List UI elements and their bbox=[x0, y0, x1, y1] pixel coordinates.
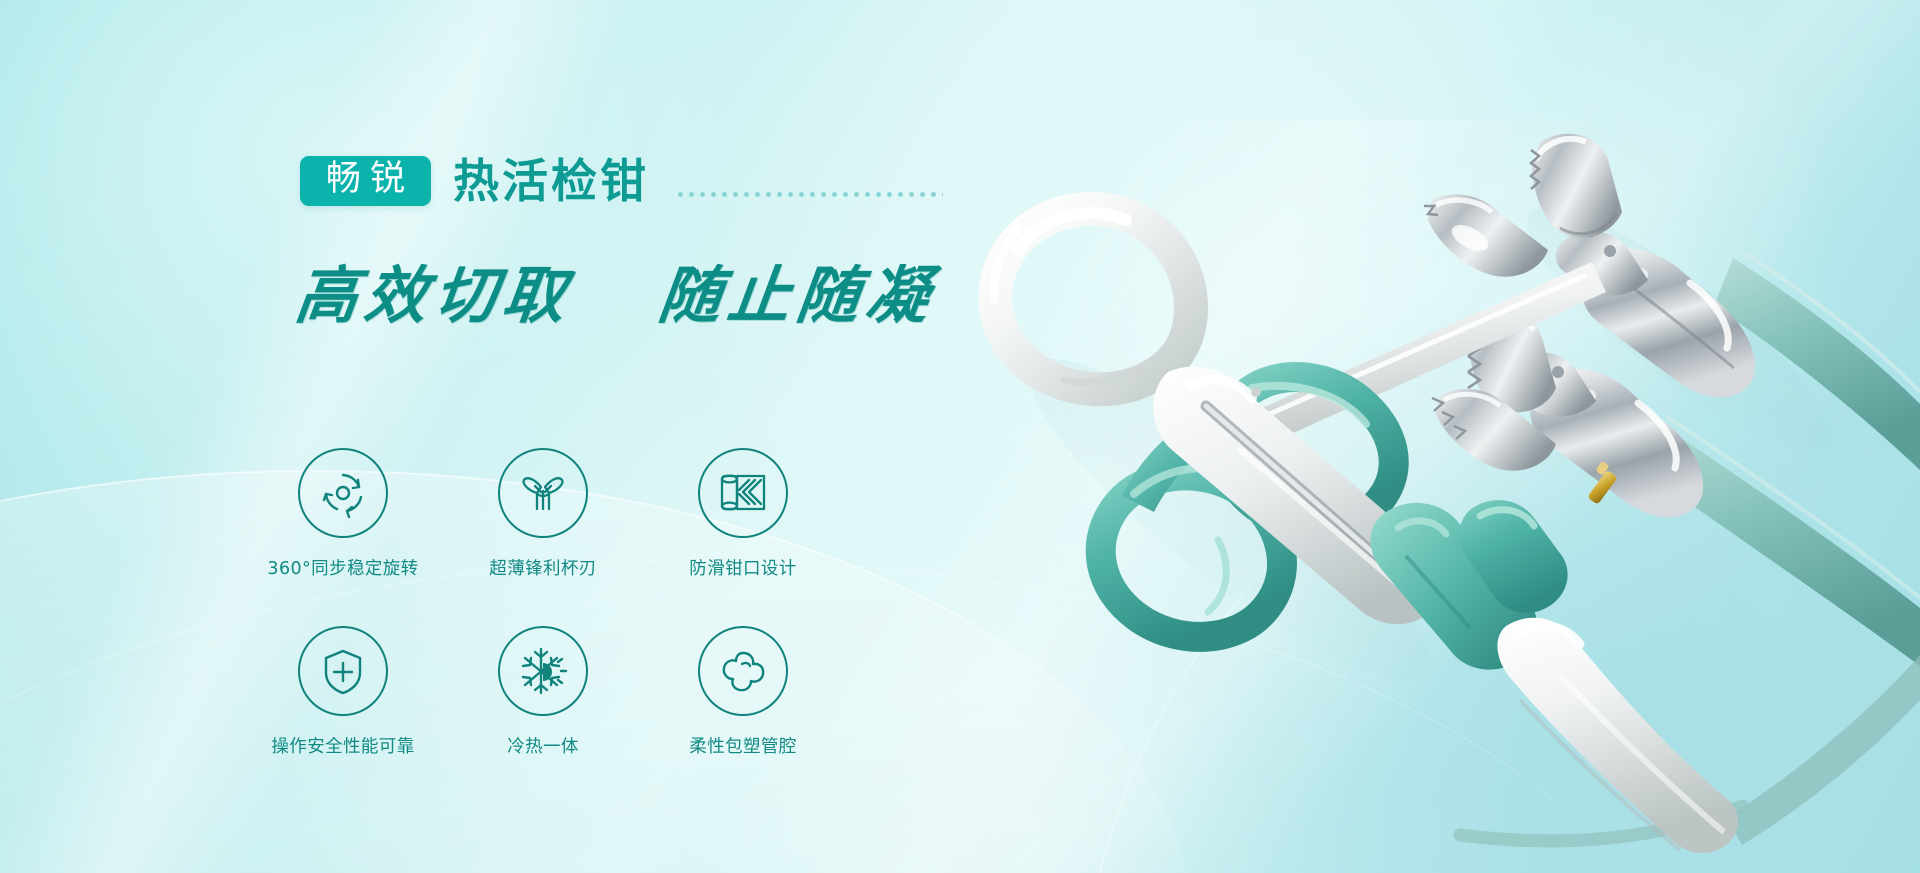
feature-grid: 360°同步稳定旋转 超薄锋利杯刃 bbox=[243, 448, 843, 758]
feature-item-lumen: 柔性包塑管腔 bbox=[643, 626, 843, 758]
anti-slip-jaw-icon bbox=[698, 448, 788, 538]
brand-badge: 畅锐 bbox=[300, 156, 431, 206]
feature-label: 防滑钳口设计 bbox=[689, 555, 796, 580]
feature-label: 冷热一体 bbox=[507, 733, 579, 758]
handle-assembly bbox=[994, 209, 1738, 853]
handle-teal-rings bbox=[1101, 377, 1394, 637]
flexible-sheath bbox=[1460, 250, 1920, 845]
forceps-head-upper bbox=[1424, 134, 1755, 397]
electrical-pin bbox=[1587, 461, 1618, 505]
handle-nose-cone bbox=[1497, 618, 1738, 853]
handle-white-thumb-ring bbox=[994, 209, 1191, 389]
title-row: 畅锐 热活检钳 bbox=[300, 156, 943, 206]
product-banner: 畅锐 热活检钳 高效切取 随止随凝 bbox=[0, 0, 1920, 873]
headline-left: 高效切取 bbox=[292, 259, 577, 332]
feature-item-rotation: 360°同步稳定旋转 bbox=[243, 448, 443, 580]
feature-item-blade: 超薄锋利杯刃 bbox=[443, 448, 643, 580]
product-shadow bbox=[996, 175, 1859, 721]
rotation-360-icon bbox=[298, 448, 388, 538]
page-title: 热活检钳 bbox=[453, 158, 649, 204]
headline: 高效切取 随止随凝 bbox=[292, 260, 940, 331]
background-glow-bottom-right bbox=[1020, 253, 1920, 873]
feature-label: 360°同步稳定旋转 bbox=[267, 555, 418, 580]
shield-plus-icon bbox=[298, 626, 388, 716]
feature-item-safety: 操作安全性能可靠 bbox=[243, 626, 443, 758]
feature-item-hotcold: 冷热一体 bbox=[443, 626, 643, 758]
feature-label: 超薄锋利杯刃 bbox=[489, 555, 596, 580]
feature-label: 柔性包塑管腔 bbox=[689, 733, 796, 758]
feature-item-jaw: 防滑钳口设计 bbox=[643, 448, 843, 580]
dotted-divider bbox=[675, 192, 943, 197]
hot-cold-icon bbox=[498, 626, 588, 716]
handle-slider-body bbox=[1153, 366, 1445, 624]
feature-label: 操作安全性能可靠 bbox=[271, 733, 414, 758]
instrument-shaft-upper bbox=[1246, 262, 1606, 447]
forceps-head-lower bbox=[1432, 310, 1703, 518]
handle-teal-collar bbox=[1370, 461, 1617, 670]
copy-block: 畅锐 热活检钳 高效切取 随止随凝 bbox=[0, 0, 1000, 873]
flexible-lumen-icon bbox=[698, 626, 788, 716]
headline-right: 随止随凝 bbox=[655, 259, 940, 332]
sharp-cup-blade-icon bbox=[498, 448, 588, 538]
background-arc-bottom-right bbox=[1080, 330, 1920, 873]
